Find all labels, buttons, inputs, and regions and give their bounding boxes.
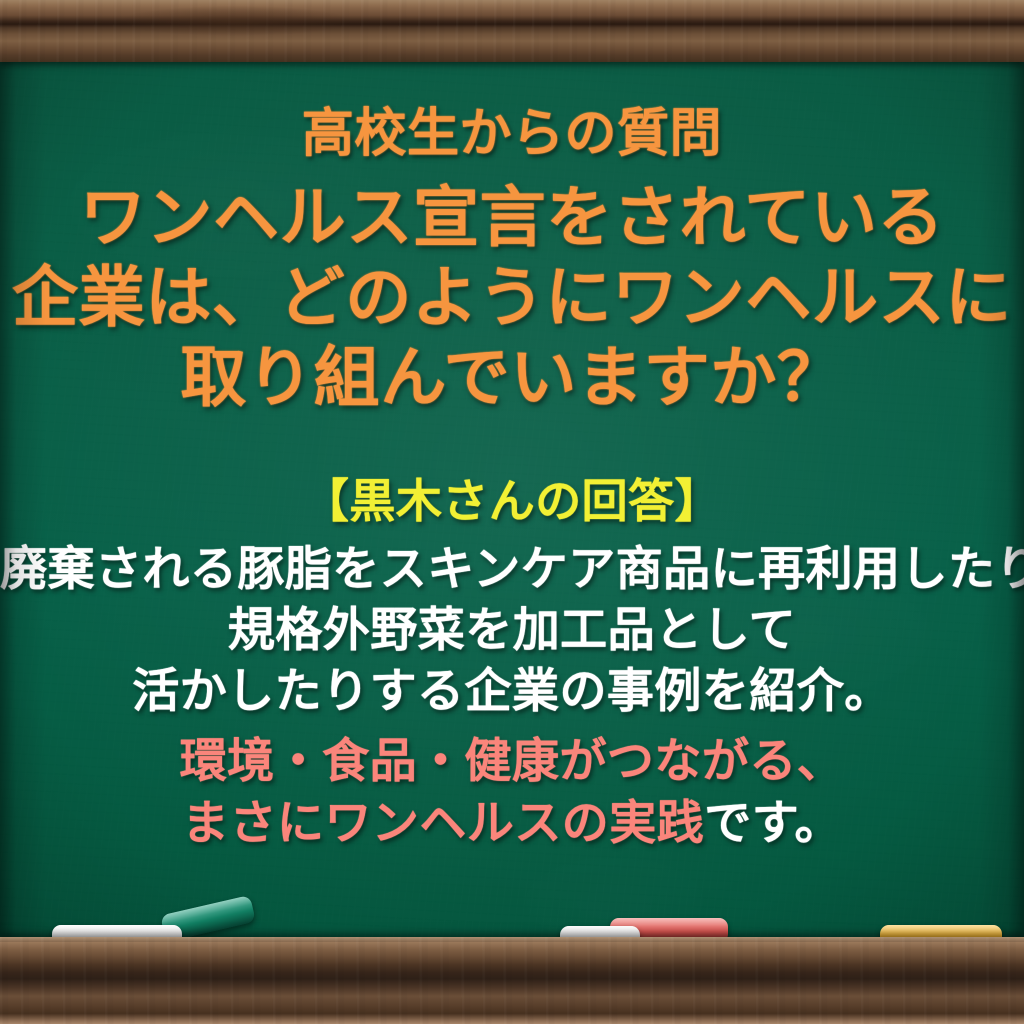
wood-frame-top (0, 0, 1024, 62)
answer-heading: 【黒木さんの回答】 (0, 478, 1024, 524)
answer-closing-plain: です。 (704, 796, 842, 851)
answer-closing-highlight: まさにワンヘルスの実践 (182, 796, 704, 851)
slide-text-layer: 高校生からの質問 ワンヘルス宣言をされている 企業は、どのようにワンヘルスに 取… (0, 0, 1024, 1024)
blackboard-slide: 高校生からの質問 ワンヘルス宣言をされている 企業は、どのようにワンヘルスに 取… (0, 0, 1024, 1024)
answer-body-line-2: 規格外野菜を加工品として (0, 607, 1024, 654)
answer-closing-line: まさにワンヘルスの実践です。 (0, 800, 1024, 847)
answer-body-line-3: 活かしたりする企業の事例を紹介。 (0, 668, 1024, 715)
question-line-2: 企業は、どのようにワンヘルスに (0, 265, 1024, 331)
question-label: 高校生からの質問 (0, 108, 1024, 160)
chalk-tray-lip (0, 937, 1024, 942)
question-line-1: ワンヘルス宣言をされている (0, 185, 1024, 251)
chalk-tray (0, 937, 1024, 1024)
answer-highlight-line: 環境・食品・健康がつながる、 (0, 738, 1024, 785)
question-line-3: 取り組んでいますか？ (0, 345, 1024, 411)
wood-grain-bottom (0, 937, 1024, 1024)
answer-body-line-1: 廃棄される豚脂をスキンケア商品に再利用したり、 (0, 546, 1024, 593)
wood-knot (120, 6, 350, 36)
